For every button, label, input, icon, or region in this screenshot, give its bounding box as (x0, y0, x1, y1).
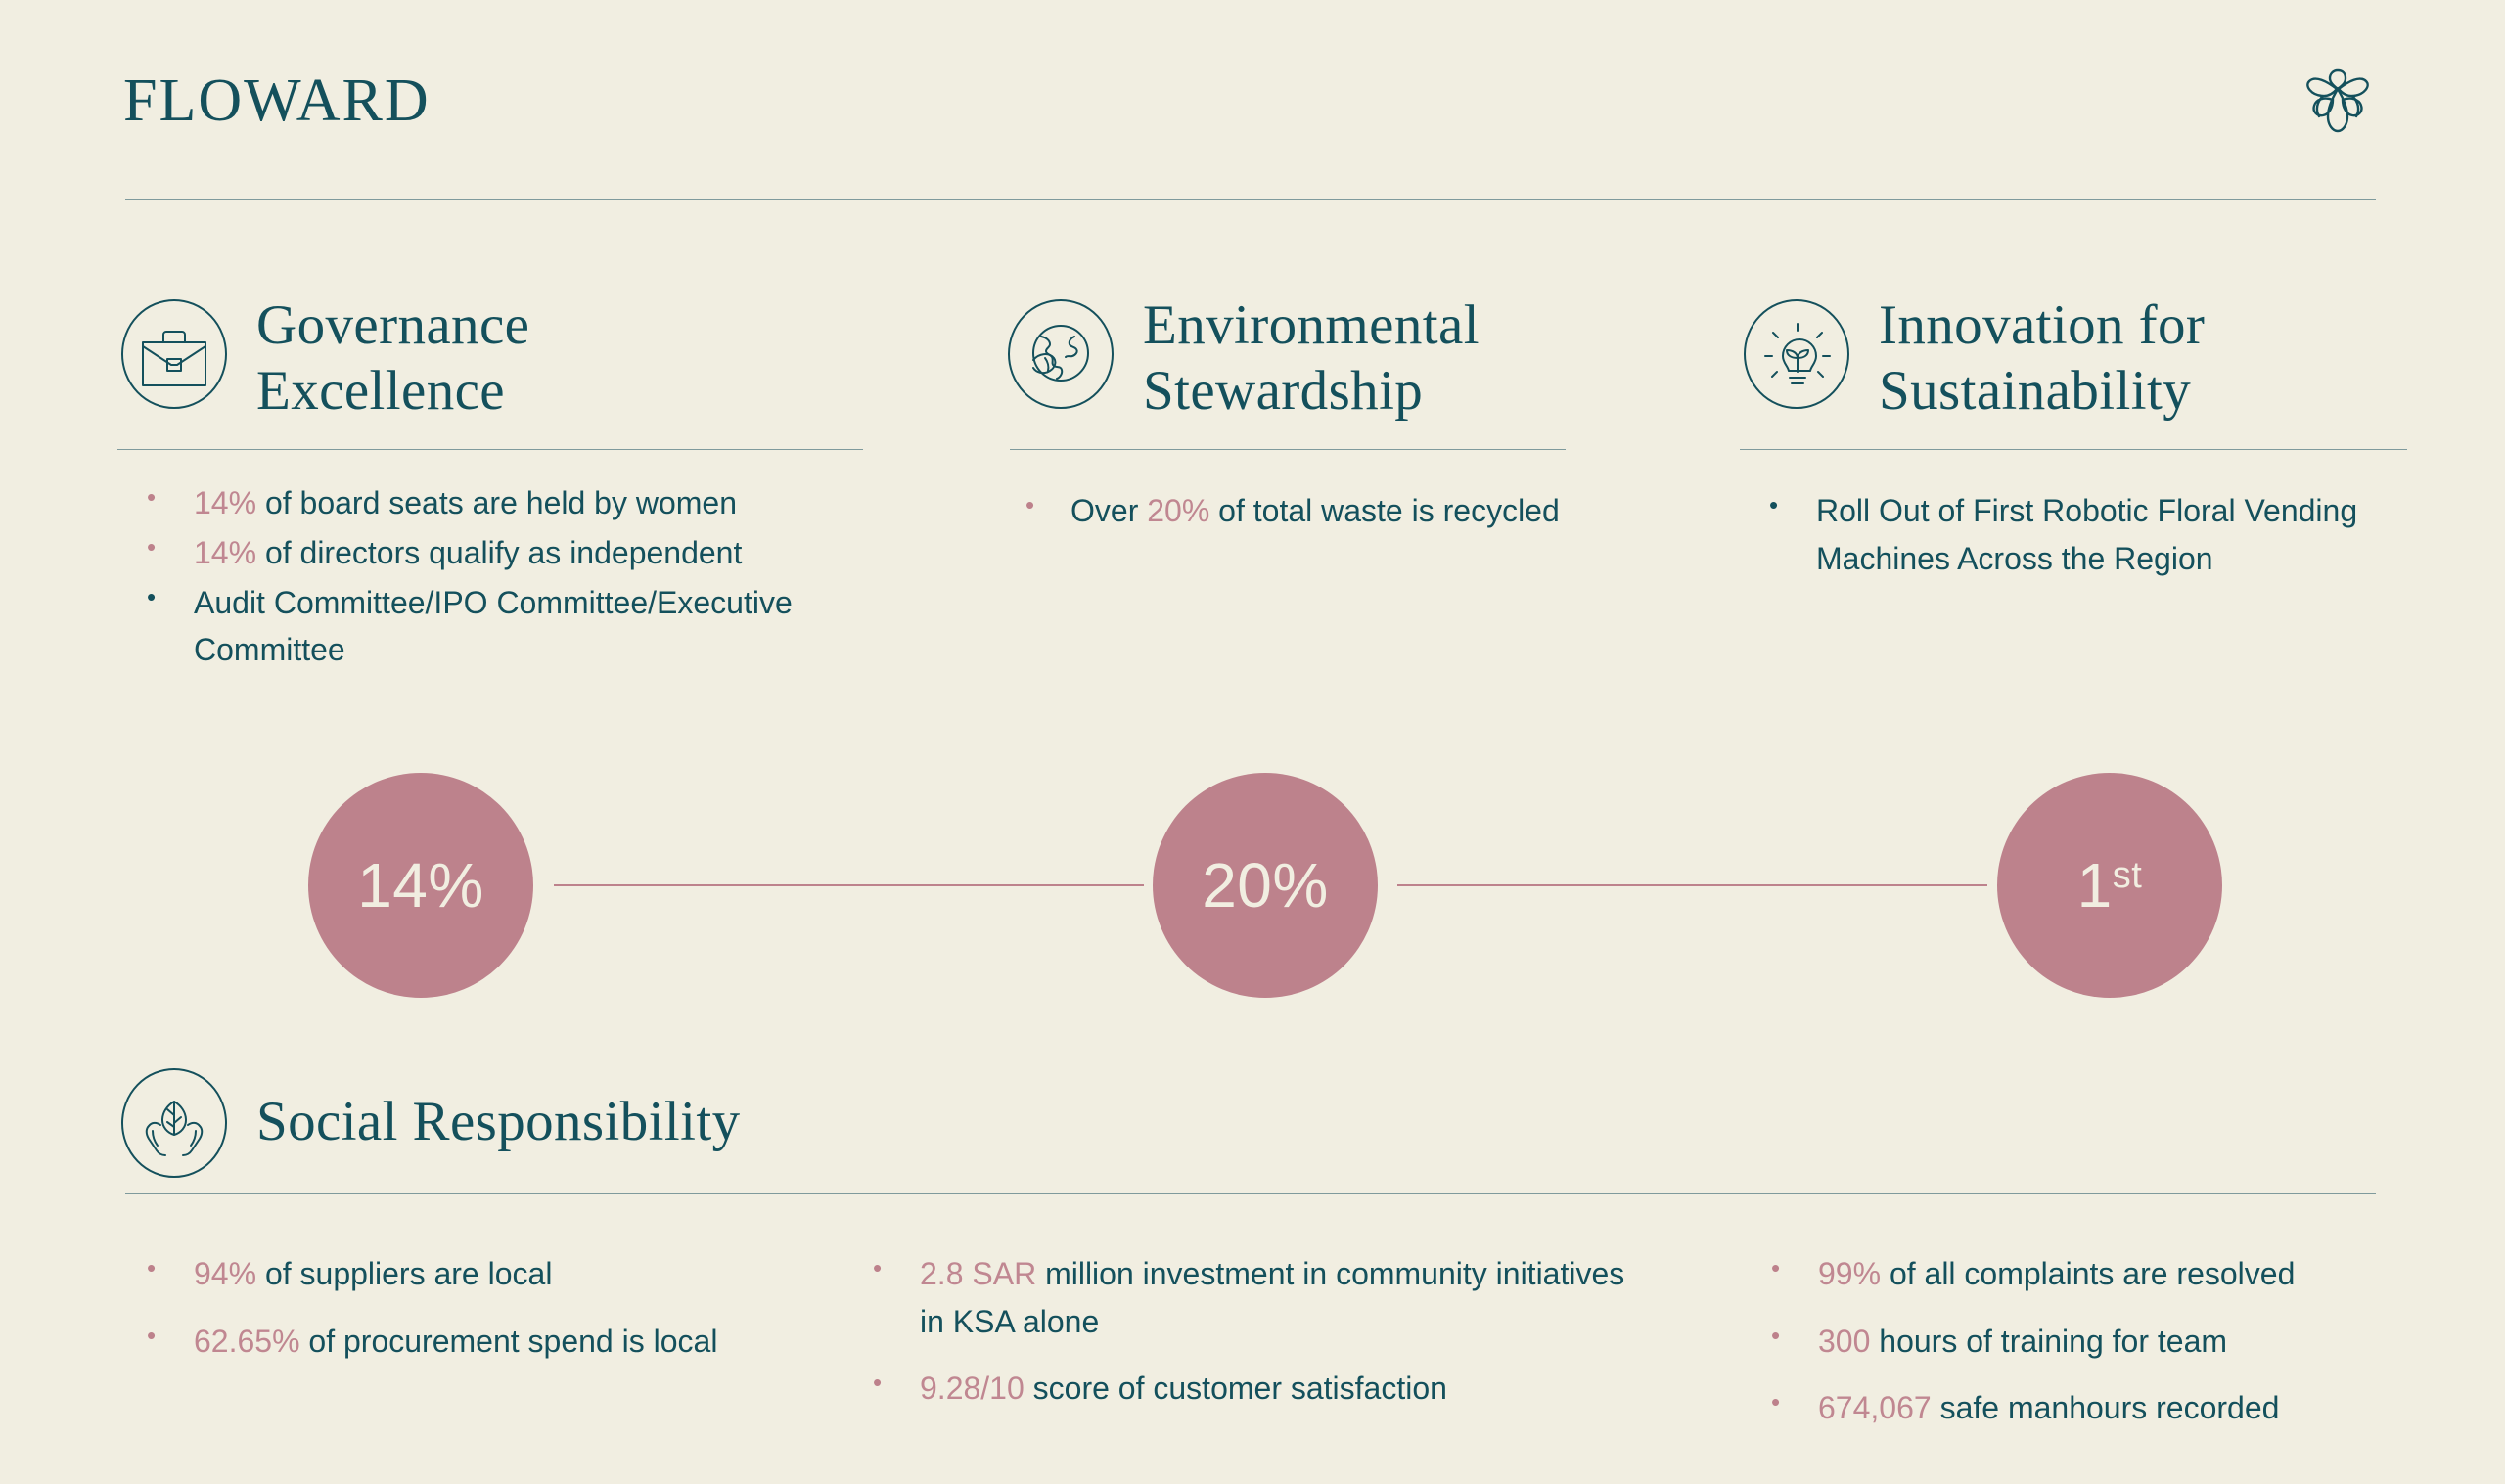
slide-root: FLOWARD Governance (0, 0, 2505, 1484)
list-item: 2.8 SAR million investment in community … (843, 1250, 1646, 1345)
column-environmental: Environmental Stewardship Over 20% of to… (1004, 293, 1611, 537)
bullet-highlight: 14% (194, 535, 256, 570)
bullet-text: safe manhours recorded (1932, 1390, 2280, 1425)
column-header: Governance Excellence (117, 293, 881, 424)
stat-value: 14% (357, 849, 484, 922)
social-responsibility-title: Social Responsibility (256, 1090, 741, 1153)
bullet-text: hours of training for team (1870, 1324, 2227, 1359)
bullet-highlight: 62.65% (194, 1324, 300, 1359)
bullet-highlight: 674,067 (1818, 1390, 1932, 1425)
list-item: 62.65% of procurement spend is local (117, 1318, 802, 1366)
list-item: 300 hours of training for team (1742, 1318, 2485, 1366)
social-group-2: 2.8 SAR million investment in community … (843, 1250, 1646, 1432)
brand-wordmark: FLOWARD (123, 70, 431, 131)
social-divider (125, 1193, 2376, 1194)
stat-circle-innovation: 1st (1997, 773, 2222, 998)
bullet-highlight: 2.8 SAR (920, 1256, 1036, 1291)
column-divider (1740, 449, 2407, 450)
list-item: 14% of directors qualify as independent (117, 529, 881, 577)
hands-plant-icon (117, 1066, 231, 1180)
bullet-text: of procurement spend is local (300, 1324, 718, 1359)
bullet-text: score of customer satisfaction (1025, 1371, 1447, 1406)
bullet-highlight: 20% (1147, 493, 1209, 528)
globe-leaf-icon (1004, 297, 1117, 411)
bullet-highlight: 94% (194, 1256, 256, 1291)
column-divider (117, 449, 863, 450)
bullet-text: of all complaints are resolved (1881, 1256, 2295, 1291)
column-header: Environmental Stewardship (1004, 293, 1611, 424)
list-item: 94% of suppliers are local (117, 1250, 802, 1298)
bullet-text: of board seats are held by women (256, 485, 737, 520)
list-item: Roll Out of First Robotic Floral Vending… (1740, 487, 2425, 582)
bullet-highlight: 300 (1818, 1324, 1870, 1359)
column-title: Environmental Stewardship (1143, 293, 1480, 424)
social-responsibility-header: Social Responsibility (117, 1062, 741, 1180)
bullet-highlight: 99% (1818, 1256, 1881, 1291)
social-group-1: 94% of suppliers are local 62.65% of pro… (117, 1250, 802, 1384)
column-title: Innovation for Sustainability (1879, 293, 2205, 424)
header-divider (125, 199, 2376, 200)
list-item: Over 20% of total waste is recycled (1004, 487, 1611, 535)
innovation-bullet-list: Roll Out of First Robotic Floral Vending… (1740, 487, 2425, 582)
list-item: 99% of all complaints are resolved (1742, 1250, 2485, 1298)
column-innovation: Innovation for Sustainability Roll Out o… (1740, 293, 2425, 585)
social-bullet-list: 99% of all complaints are resolved 300 h… (1742, 1250, 2485, 1432)
bullet-text: of total waste is recycled (1209, 493, 1559, 528)
bullet-highlight: 9.28/10 (920, 1371, 1025, 1406)
governance-bullet-list: 14% of board seats are held by women 14%… (117, 479, 881, 674)
column-title: Governance Excellence (256, 293, 529, 424)
social-group-3: 99% of all complaints are resolved 300 h… (1742, 1250, 2485, 1452)
list-item: 9.28/10 score of customer satisfaction (843, 1365, 1646, 1413)
stat-value: 20% (1202, 849, 1329, 922)
briefcase-icon (117, 297, 231, 411)
list-item: 674,067 safe manhours recorded (1742, 1384, 2485, 1432)
column-header: Innovation for Sustainability (1740, 293, 2425, 424)
list-item: Audit Committee/IPO Committee/Executive … (117, 579, 881, 674)
connector-line-2 (1397, 884, 1987, 886)
bullet-text: of suppliers are local (256, 1256, 552, 1291)
column-governance: Governance Excellence 14% of board seats… (117, 293, 881, 676)
stats-band: 14% 20% 1st (0, 773, 2505, 998)
stat-value: 1 (2077, 849, 2113, 922)
social-bullet-list: 94% of suppliers are local 62.65% of pro… (117, 1250, 802, 1365)
floward-butterfly-monogram-icon (2294, 51, 2382, 139)
bullet-text: Audit Committee/IPO Committee/Executive … (194, 585, 793, 668)
column-divider (1010, 449, 1566, 450)
bullet-prefix: Over (1070, 493, 1147, 528)
stat-circle-governance: 14% (308, 773, 533, 998)
bullet-highlight: 14% (194, 485, 256, 520)
stat-suffix: st (2113, 857, 2143, 894)
list-item: 14% of board seats are held by women (117, 479, 881, 527)
bullet-text: of directors qualify as independent (256, 535, 742, 570)
connector-line-1 (554, 884, 1144, 886)
environmental-bullet-list: Over 20% of total waste is recycled (1004, 487, 1611, 535)
lightbulb-sprout-icon (1740, 297, 1853, 411)
stat-circle-environmental: 20% (1153, 773, 1378, 998)
bullet-text: Roll Out of First Robotic Floral Vending… (1816, 493, 2357, 576)
social-bullet-list: 2.8 SAR million investment in community … (843, 1250, 1646, 1413)
